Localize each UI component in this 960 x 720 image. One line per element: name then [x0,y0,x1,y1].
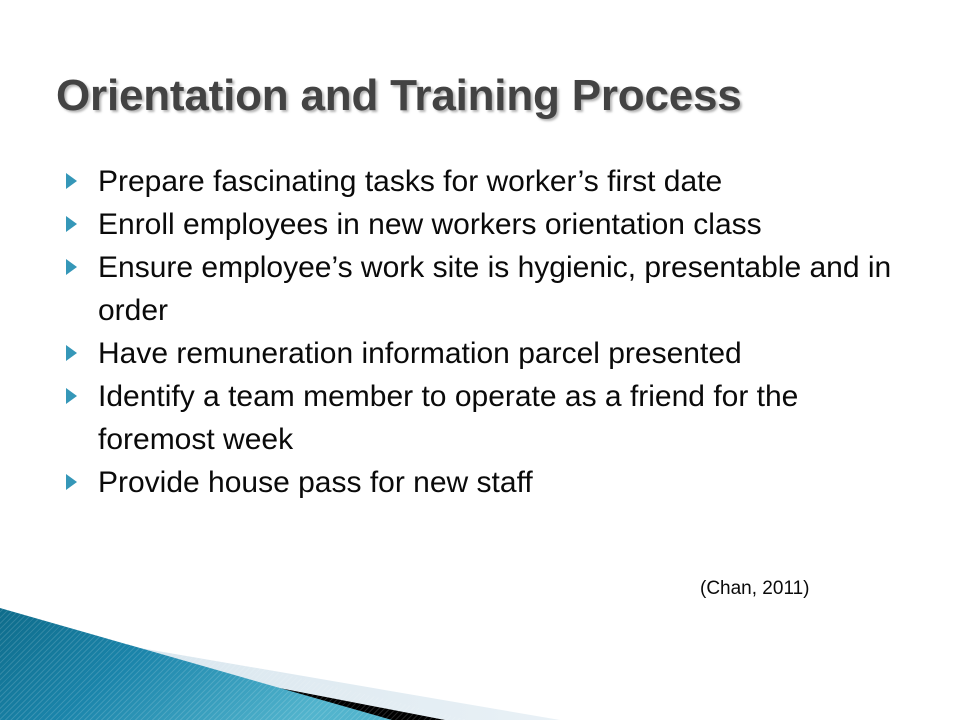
list-item-label: Provide house pass for new staff [98,461,918,504]
list-item: Ensure employee’s work site is hygienic,… [58,246,918,332]
deco-band-black [0,634,445,720]
triangle-right-icon [66,345,77,361]
corner-decoration-shape [0,590,600,720]
triangle-right-icon [66,474,77,490]
deco-band-teal [0,608,392,720]
list-item: Enroll employees in new workers orientat… [58,203,918,246]
triangle-right-icon [66,259,77,275]
list-item: Prepare fascinating tasks for worker’s f… [58,160,918,203]
list-item-label: Prepare fascinating tasks for worker’s f… [98,160,918,203]
list-item-label: Ensure employee’s work site is hygienic,… [98,246,918,332]
list-item-label: Identify a team member to operate as a f… [98,375,918,461]
triangle-right-icon [66,216,77,232]
citation-text: (Chan, 2011) [700,578,810,600]
triangle-right-icon [66,173,77,189]
triangle-right-icon [66,388,77,404]
list-item-label: Enroll employees in new workers orientat… [98,203,918,246]
list-item: Identify a team member to operate as a f… [58,375,918,461]
deco-band-pale [0,624,560,720]
corner-decoration [0,590,600,720]
deco-stripe-texture [0,590,600,720]
list-item: Provide house pass for new staff [58,461,918,504]
slide-canvas: Orientation and Training Process Prepare… [0,0,960,720]
bullet-list: Prepare fascinating tasks for worker’s f… [58,160,918,504]
list-item-label: Have remuneration information parcel pre… [98,332,918,375]
page-title: Orientation and Training Process [56,72,916,120]
list-item: Have remuneration information parcel pre… [58,332,918,375]
